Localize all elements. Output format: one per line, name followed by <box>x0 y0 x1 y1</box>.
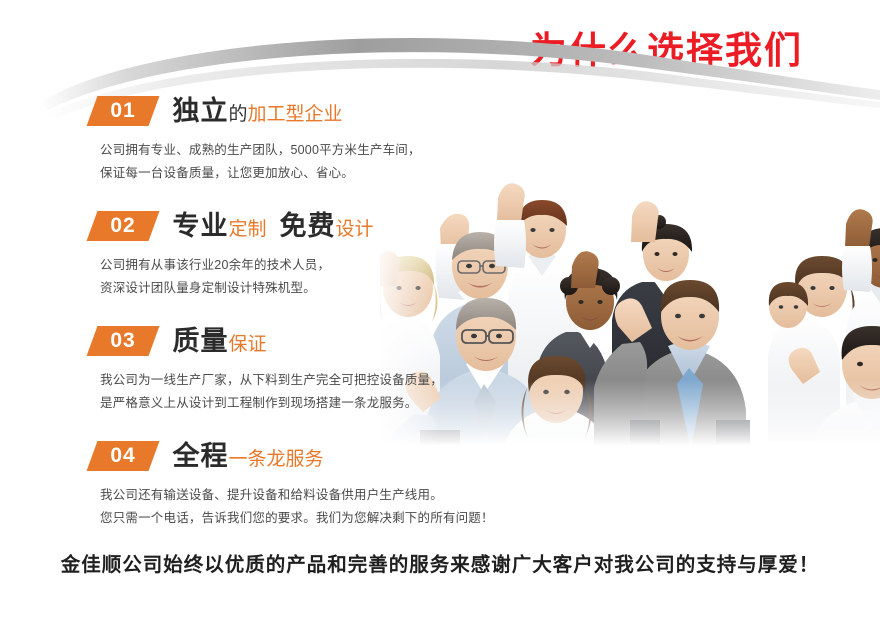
feature-number: 02 <box>92 211 154 241</box>
feature-title-main-2: 免费 <box>279 211 335 241</box>
feature-body-line: 我公司为一线生产厂家，从下料到生产完全可把控设备质量， <box>100 369 492 392</box>
feature-block-01: 01 独立的加工型企业 公司拥有专业、成熟的生产团队，5000平方米生产车间， … <box>92 94 492 185</box>
feature-title-accent: 加工型企业 <box>247 104 342 125</box>
page-title: 为什么选择我们 <box>530 26 860 76</box>
feature-title-main: 质量 <box>172 326 228 356</box>
feature-block-02: 02 专业定制免费设计 公司拥有从事该行业20余年的技术人员， 资深设计团队量身… <box>92 209 492 300</box>
feature-body-line: 保证每一台设备质量，让您更加放心、省心。 <box>100 162 492 185</box>
feature-title-light: 的 <box>228 104 247 125</box>
feature-block-03: 03 质量保证 我公司为一线生产厂家，从下料到生产完全可把控设备质量， 是严格意… <box>92 324 492 415</box>
feature-body-line: 资深设计团队量身定制设计特殊机型。 <box>100 277 492 300</box>
feature-body-line: 是严格意义上从设计到工程制作到现场搭建一条龙服务。 <box>100 392 492 415</box>
feature-number-badge: 04 <box>87 441 160 471</box>
feature-number: 03 <box>92 326 154 356</box>
feature-title: 质量保证 <box>172 324 266 362</box>
promo-banner: 为什么选择我们 <box>0 0 880 626</box>
feature-title: 专业定制免费设计 <box>172 209 373 247</box>
feature-heading: 02 专业定制免费设计 <box>92 209 492 245</box>
feature-body: 公司拥有专业、成熟的生产团队，5000平方米生产车间， 保证每一台设备质量，让您… <box>100 139 492 185</box>
feature-heading: 03 质量保证 <box>92 324 492 360</box>
feature-number: 04 <box>92 441 154 471</box>
feature-title-accent: 定制 <box>228 219 266 240</box>
feature-number-badge: 01 <box>87 96 160 126</box>
feature-title-accent: 保证 <box>228 334 266 355</box>
feature-number-badge: 02 <box>87 211 160 241</box>
feature-body-line: 公司拥有专业、成熟的生产团队，5000平方米生产车间， <box>100 139 492 162</box>
feature-number: 01 <box>92 96 154 126</box>
feature-title-main: 专业 <box>172 211 228 241</box>
feature-heading: 01 独立的加工型企业 <box>92 94 492 130</box>
feature-title-main: 全程 <box>172 441 228 471</box>
feature-body: 我公司还有输送设备、提升设备和给料设备供用户生产线用。 您只需一个电话，告诉我们… <box>100 484 492 530</box>
feature-body-line: 您只需一个电话，告诉我们您的要求。我们为您解决剩下的所有问题！ <box>100 507 492 530</box>
feature-block-04: 04 全程一条龙服务 我公司还有输送设备、提升设备和给料设备供用户生产线用。 您… <box>92 439 492 530</box>
feature-title-main: 独立 <box>172 96 228 126</box>
feature-title: 全程一条龙服务 <box>172 439 323 477</box>
footer-tagline: 金佳顺公司始终以优质的产品和完善的服务来感谢广大客户对我公司的支持与厚爱！ <box>0 548 880 577</box>
feature-title: 独立的加工型企业 <box>172 94 342 132</box>
feature-title-accent-2: 设计 <box>335 219 373 240</box>
feature-title-accent: 一条龙服务 <box>228 449 323 470</box>
feature-body: 公司拥有从事该行业20余年的技术人员， 资深设计团队量身定制设计特殊机型。 <box>100 254 492 300</box>
feature-body-line: 我公司还有输送设备、提升设备和给料设备供用户生产线用。 <box>100 484 492 507</box>
feature-body: 我公司为一线生产厂家，从下料到生产完全可把控设备质量， 是严格意义上从设计到工程… <box>100 369 492 415</box>
feature-heading: 04 全程一条龙服务 <box>92 439 492 475</box>
feature-number-badge: 03 <box>87 326 160 356</box>
feature-body-line: 公司拥有从事该行业20余年的技术人员， <box>100 254 492 277</box>
